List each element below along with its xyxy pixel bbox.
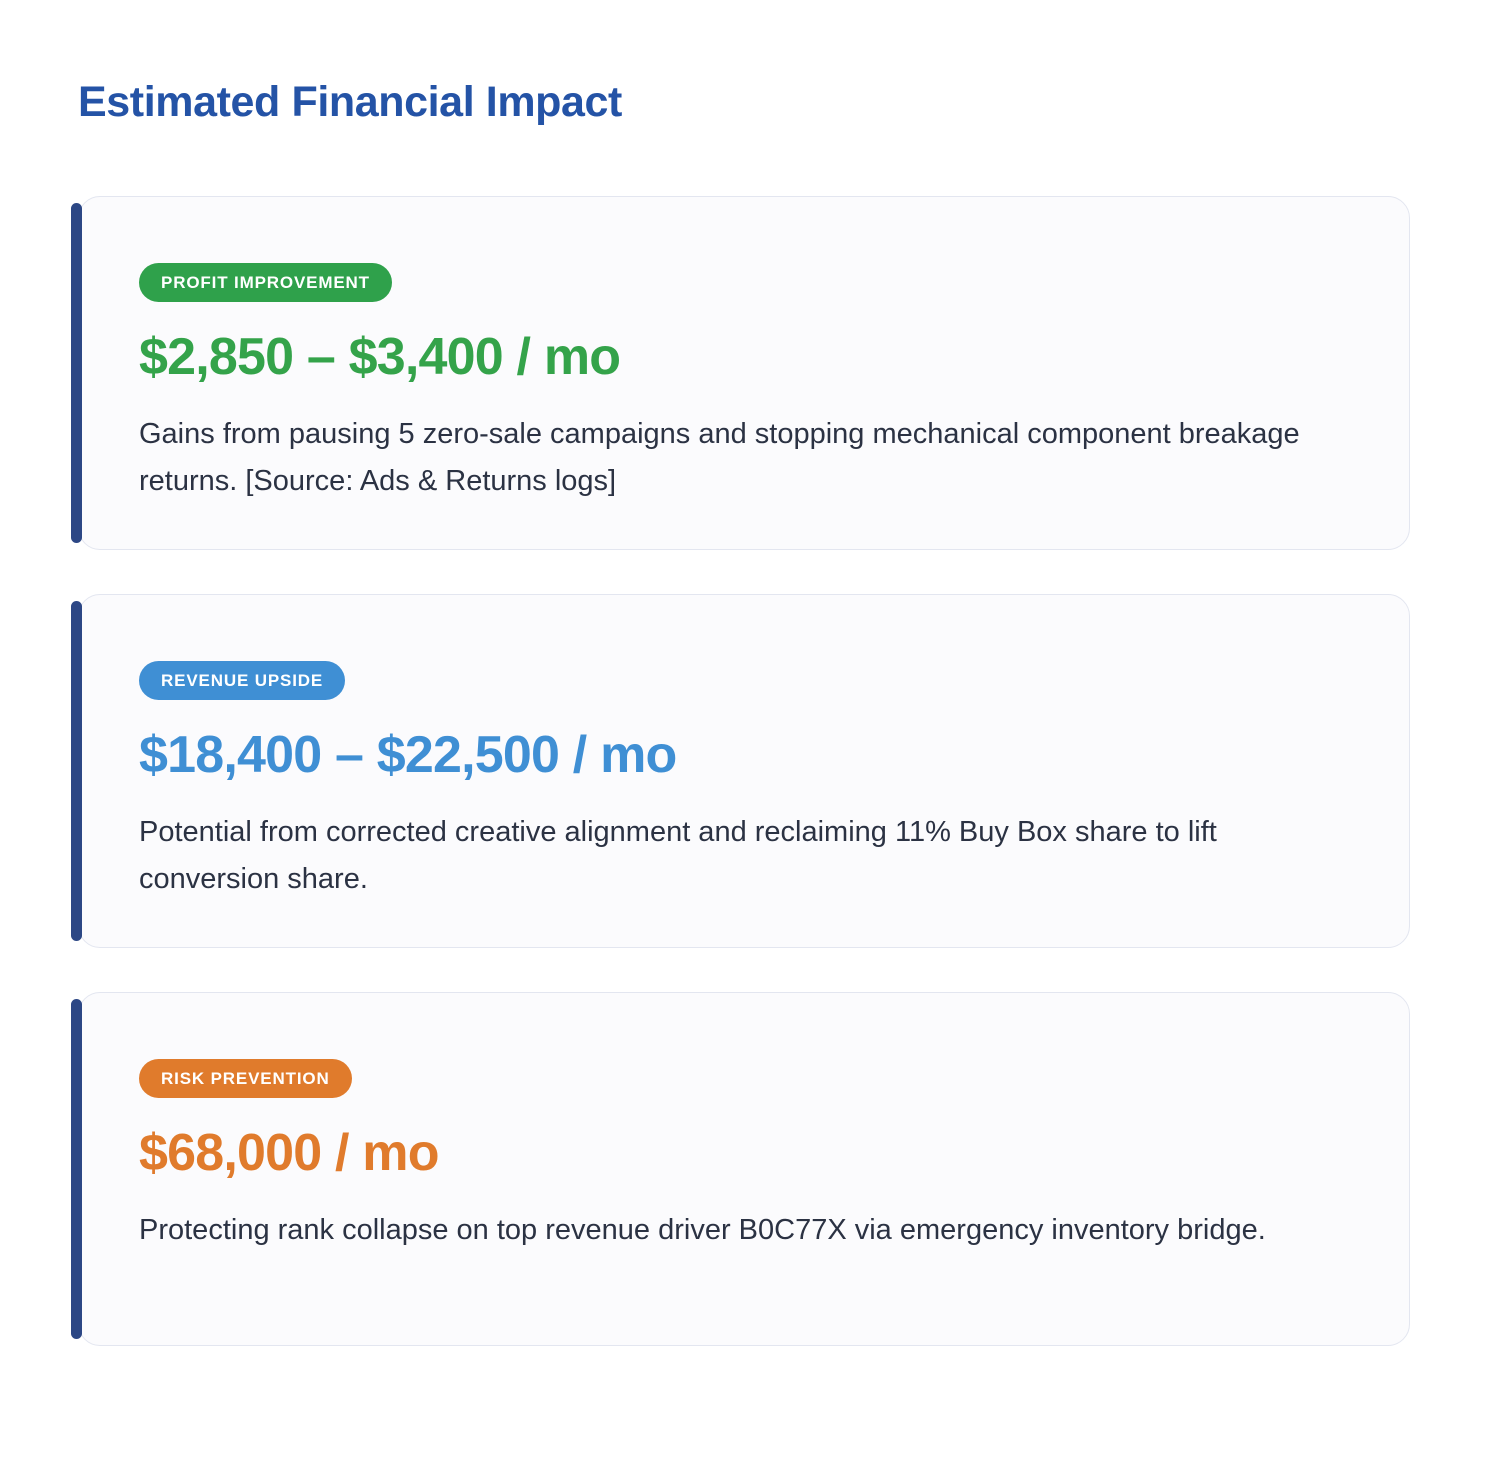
financial-impact-page: Estimated Financial Impact PROFIT IMPROV… <box>0 0 1488 1460</box>
status-badge: RISK PREVENTION <box>139 1059 352 1098</box>
impact-card-list: PROFIT IMPROVEMENT $2,850 – $3,400 / mo … <box>78 196 1410 1346</box>
impact-card-risk-prevention[interactable]: RISK PREVENTION $68,000 / mo Protecting … <box>78 992 1410 1346</box>
impact-card-revenue-upside[interactable]: REVENUE UPSIDE $18,400 – $22,500 / mo Po… <box>78 594 1410 948</box>
impact-description: Gains from pausing 5 zero-sale campaigns… <box>139 411 1329 505</box>
impact-description: Protecting rank collapse on top revenue … <box>139 1207 1329 1254</box>
status-badge: PROFIT IMPROVEMENT <box>139 263 392 302</box>
impact-card-profit-improvement[interactable]: PROFIT IMPROVEMENT $2,850 – $3,400 / mo … <box>78 196 1410 550</box>
card-accent-bar <box>71 601 82 941</box>
impact-value: $18,400 – $22,500 / mo <box>139 728 1363 783</box>
impact-description: Potential from corrected creative alignm… <box>139 809 1329 903</box>
card-accent-bar <box>71 999 82 1339</box>
card-accent-bar <box>71 203 82 543</box>
impact-value: $2,850 – $3,400 / mo <box>139 330 1363 385</box>
status-badge: REVENUE UPSIDE <box>139 661 345 700</box>
impact-value: $68,000 / mo <box>139 1126 1363 1181</box>
page-title: Estimated Financial Impact <box>78 78 622 126</box>
